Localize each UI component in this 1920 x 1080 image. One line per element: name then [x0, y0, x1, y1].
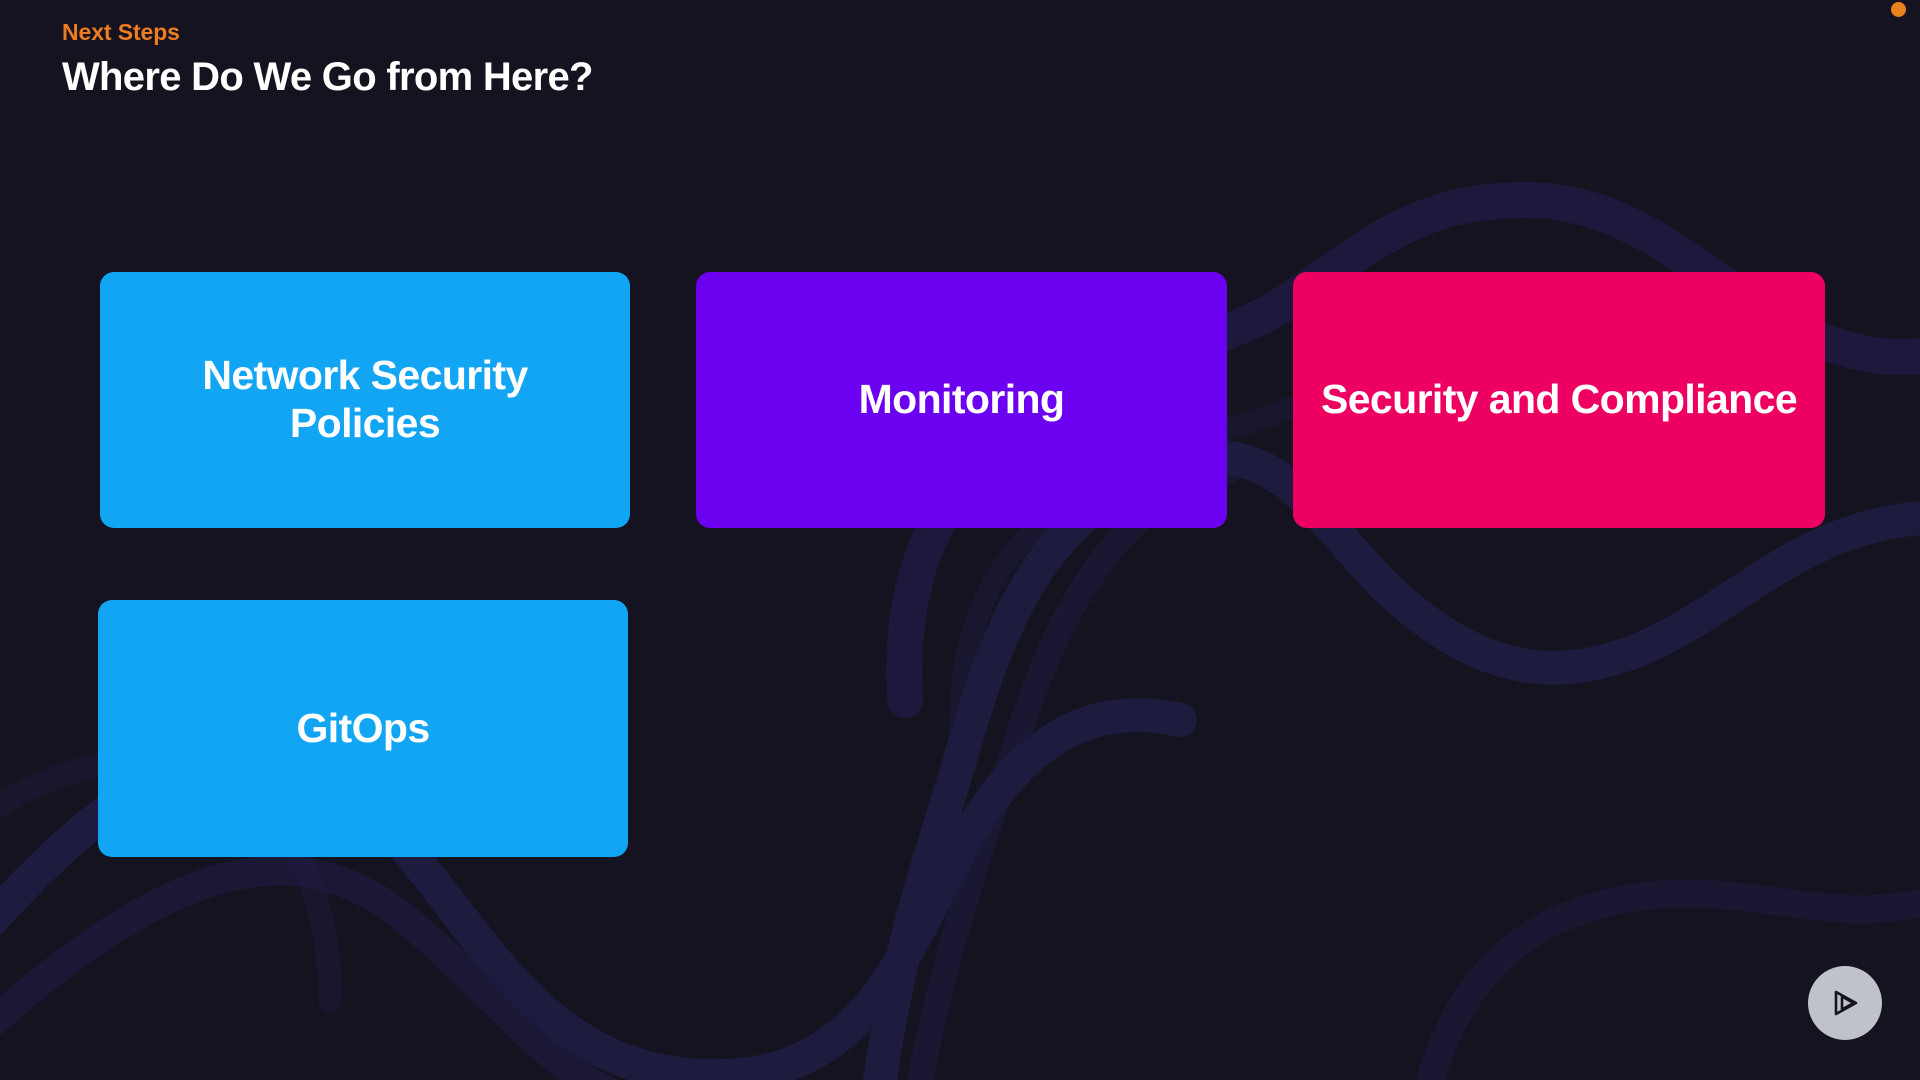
slide-header: Next Steps Where Do We Go from Here? [62, 18, 593, 100]
topic-card-security-and-compliance[interactable]: Security and Compliance [1293, 272, 1825, 528]
recording-dot-indicator [1891, 2, 1906, 17]
slide-canvas: Next Steps Where Do We Go from Here? Net… [0, 0, 1920, 1080]
topic-card-network-security-policies[interactable]: Network Security Policies [100, 272, 630, 528]
prezi-play-icon [1825, 983, 1865, 1023]
page-title: Where Do We Go from Here? [62, 54, 593, 100]
topic-card-label: GitOps [296, 705, 429, 753]
topic-card-monitoring[interactable]: Monitoring [696, 272, 1227, 528]
eyebrow-label: Next Steps [62, 18, 593, 47]
topic-card-label: Security and Compliance [1321, 376, 1797, 424]
topic-card-gitops[interactable]: GitOps [98, 600, 628, 857]
prezi-play-badge[interactable] [1808, 966, 1882, 1040]
background-wave-decoration [0, 0, 1920, 1080]
topic-card-label: Network Security Policies [126, 352, 604, 447]
topic-card-label: Monitoring [859, 376, 1065, 424]
